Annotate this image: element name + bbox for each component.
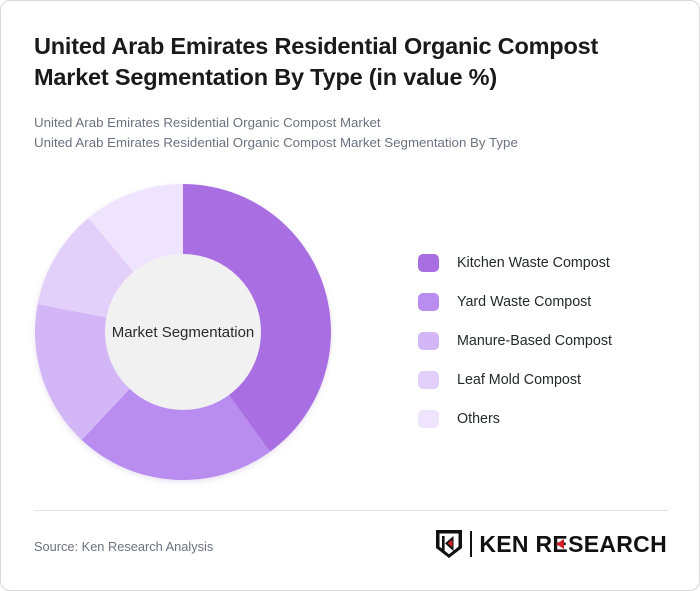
subtitle-block: United Arab Emirates Residential Organic… bbox=[34, 113, 654, 152]
legend-item[interactable]: Leaf Mold Compost bbox=[418, 360, 678, 399]
source-note: Source: Ken Research Analysis bbox=[34, 539, 213, 554]
legend-label: Leaf Mold Compost bbox=[457, 372, 581, 388]
footer-divider bbox=[34, 510, 668, 511]
logo-wordmark: KEN RESEARCH bbox=[479, 533, 667, 556]
legend-label: Others bbox=[457, 411, 500, 427]
legend-label: Kitchen Waste Compost bbox=[457, 255, 610, 271]
ken-research-logo: KEN RESEARCH bbox=[434, 527, 667, 561]
legend-label: Yard Waste Compost bbox=[457, 294, 591, 310]
donut-svg bbox=[33, 182, 333, 482]
logo-separator-bar bbox=[470, 531, 472, 557]
subtitle-line-1: United Arab Emirates Residential Organic… bbox=[34, 113, 654, 133]
legend-item[interactable]: Others bbox=[418, 399, 678, 438]
legend-swatch bbox=[418, 293, 439, 311]
page-title: United Arab Emirates Residential Organic… bbox=[34, 31, 644, 93]
logo-text-part-1: K bbox=[479, 533, 496, 556]
legend-swatch bbox=[418, 410, 439, 428]
subtitle-line-2: United Arab Emirates Residential Organic… bbox=[34, 133, 654, 153]
chart-area: Market Segmentation Kitchen Waste Compos… bbox=[1, 166, 700, 501]
donut-chart: Market Segmentation bbox=[33, 182, 333, 482]
legend-label: Manure-Based Compost bbox=[457, 333, 612, 349]
logo-text-part-3: SEARCH bbox=[568, 533, 667, 556]
legend-swatch bbox=[418, 332, 439, 350]
chart-card: United Arab Emirates Residential Organic… bbox=[0, 0, 700, 591]
logo-text-part-2: EN R bbox=[496, 533, 552, 556]
logo-triangle-icon bbox=[556, 539, 564, 549]
legend-item[interactable]: Kitchen Waste Compost bbox=[418, 243, 678, 282]
logo-e-accent: E bbox=[552, 533, 568, 556]
legend-item[interactable]: Yard Waste Compost bbox=[418, 282, 678, 321]
legend-swatch bbox=[418, 254, 439, 272]
ken-research-shield-icon bbox=[434, 528, 464, 560]
legend-item[interactable]: Manure-Based Compost bbox=[418, 321, 678, 360]
chart-legend: Kitchen Waste CompostYard Waste CompostM… bbox=[418, 243, 678, 438]
legend-swatch bbox=[418, 371, 439, 389]
donut-hole bbox=[105, 254, 261, 410]
